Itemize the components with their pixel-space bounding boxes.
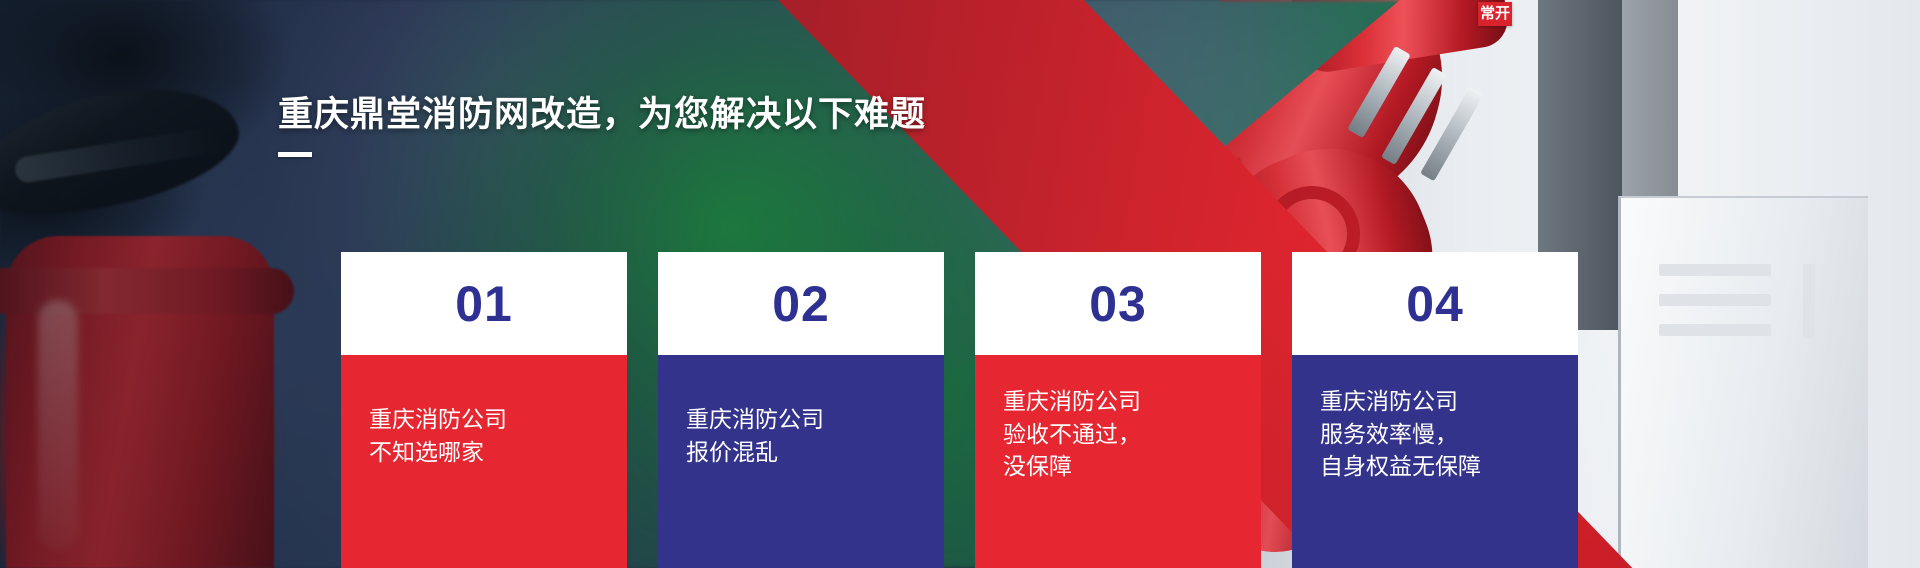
- card-number-03: 03: [975, 252, 1261, 355]
- card-text-line: 没保障: [1003, 450, 1233, 483]
- card-text-04: 重庆消防公司 服务效率慢， 自身权益无保障: [1292, 355, 1578, 568]
- card-text-02: 重庆消防公司 报价混乱: [658, 355, 944, 568]
- pain-point-card-01[interactable]: 01 重庆消防公司 不知选哪家: [341, 252, 627, 568]
- card-text-line: 自身权益无保障: [1320, 450, 1550, 483]
- card-number-01: 01: [341, 252, 627, 355]
- pain-point-card-list: 01 重庆消防公司 不知选哪家 02 重庆消防公司 报价混乱 03 重庆消防公司…: [341, 252, 1578, 568]
- banner-content: 重庆鼎堂消防网改造，为您解决以下难题 01 重庆消防公司 不知选哪家 02 重庆…: [0, 0, 1920, 568]
- pain-point-card-04[interactable]: 04 重庆消防公司 服务效率慢， 自身权益无保障: [1292, 252, 1578, 568]
- pain-point-card-03[interactable]: 03 重庆消防公司 验收不通过， 没保障: [975, 252, 1261, 568]
- card-text-line: 报价混乱: [686, 436, 916, 469]
- promo-banner: 常开 常开 常闭 常开 重庆鼎堂消防网改造，为您解决以下难题 01 重庆消防公司…: [0, 0, 1920, 568]
- headline-divider: [278, 152, 312, 157]
- pain-point-card-02[interactable]: 02 重庆消防公司 报价混乱: [658, 252, 944, 568]
- card-text-01: 重庆消防公司 不知选哪家: [341, 355, 627, 568]
- card-number-02: 02: [658, 252, 944, 355]
- card-text-line: 不知选哪家: [369, 436, 599, 469]
- card-text-line: 服务效率慢，: [1320, 418, 1550, 451]
- card-text-line: 重庆消防公司: [1320, 385, 1550, 418]
- card-text-line: 重庆消防公司: [686, 403, 916, 436]
- card-text-line: 重庆消防公司: [369, 403, 599, 436]
- card-text-line: 重庆消防公司: [1003, 385, 1233, 418]
- banner-headline: 重庆鼎堂消防网改造，为您解决以下难题: [278, 86, 926, 137]
- card-text-line: 验收不通过，: [1003, 418, 1233, 451]
- card-text-03: 重庆消防公司 验收不通过， 没保障: [975, 355, 1261, 568]
- card-number-04: 04: [1292, 252, 1578, 355]
